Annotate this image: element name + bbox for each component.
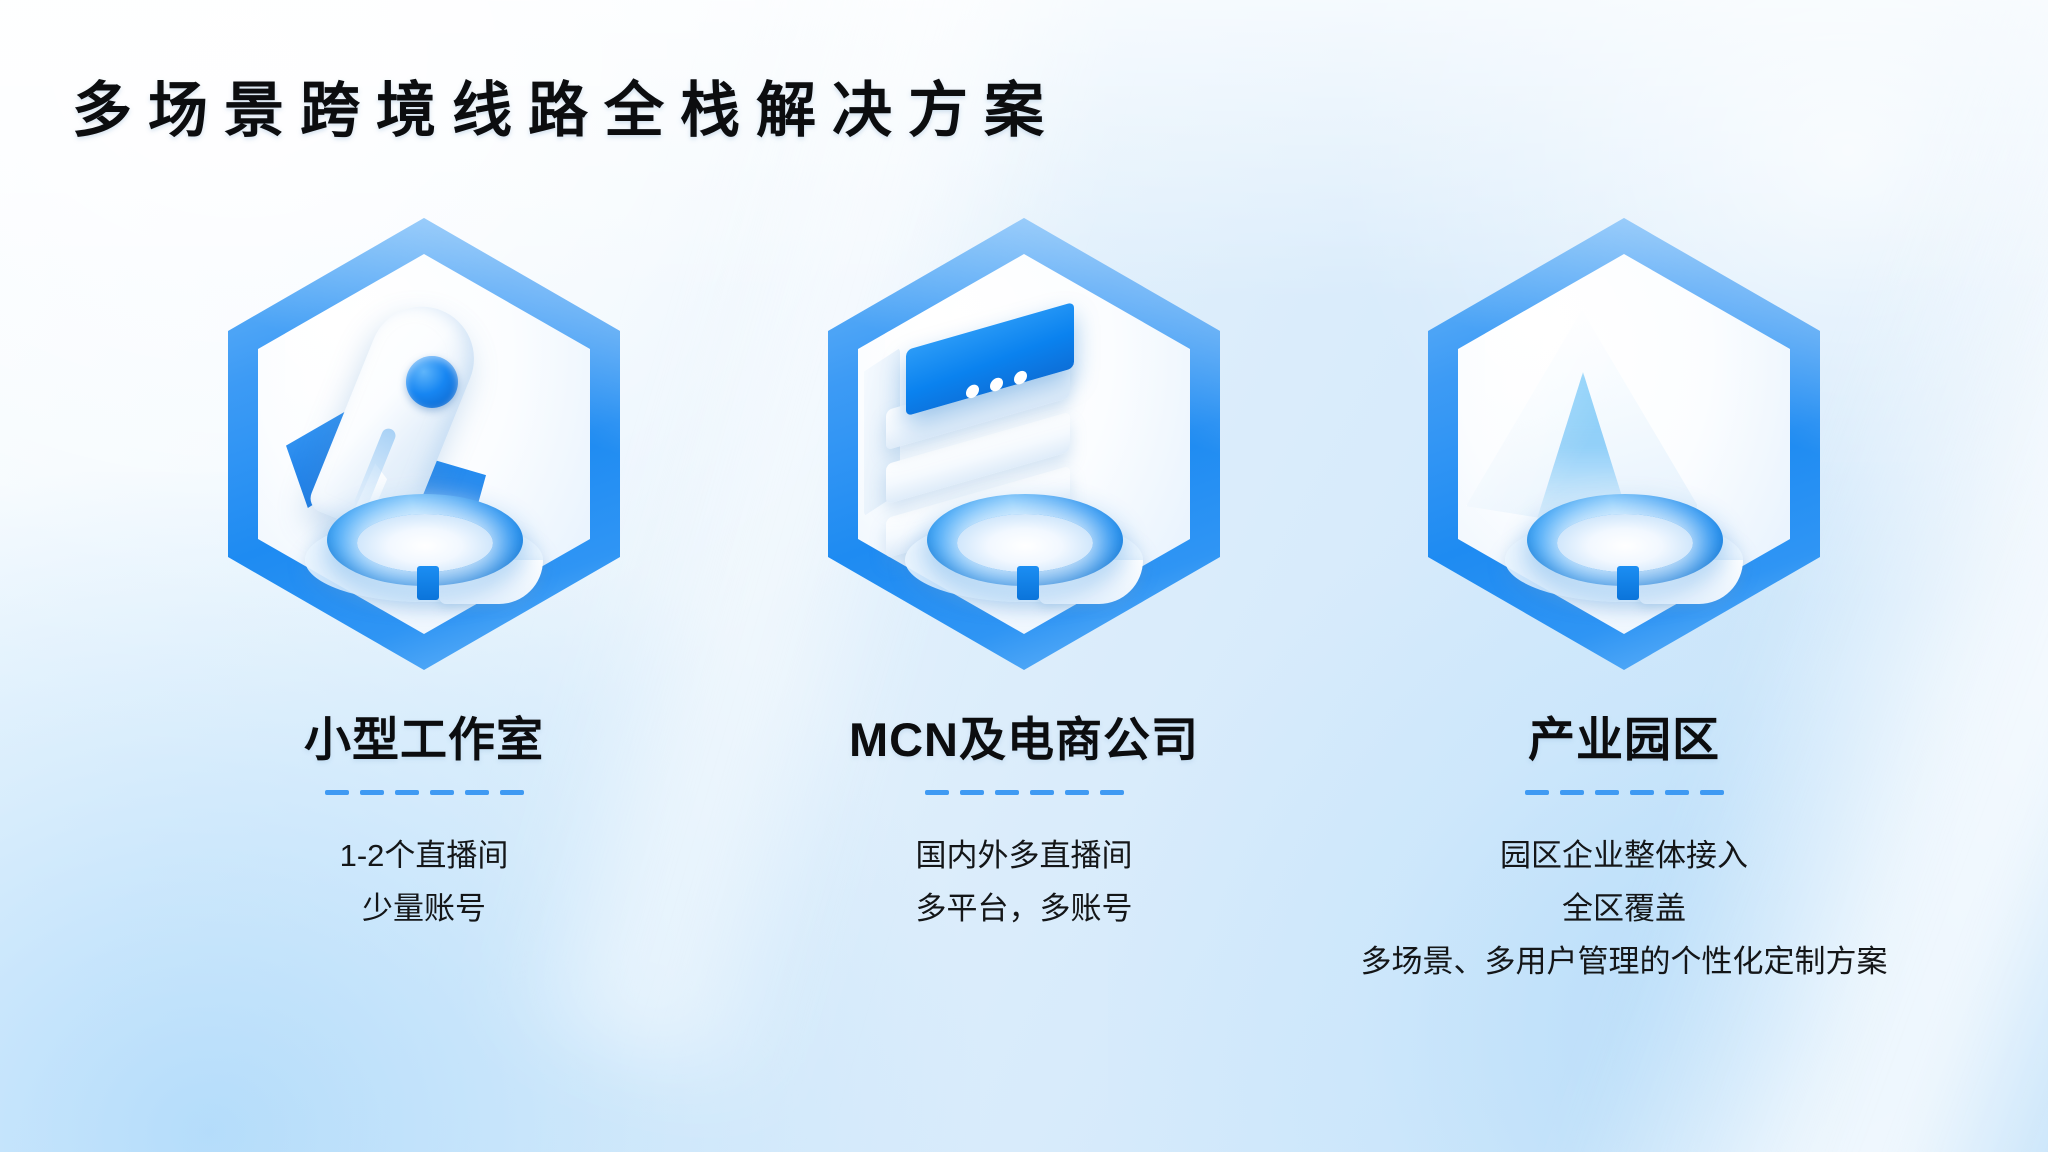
divider-dash	[465, 790, 489, 795]
card-description-line: 1-2个直播间	[340, 829, 509, 882]
card-description: 园区企业整体接入 全区覆盖 多场景、多用户管理的个性化定制方案	[1361, 829, 1888, 989]
card-description-line: 少量账号	[340, 882, 509, 935]
card-description-line: 全区覆盖	[1361, 882, 1888, 935]
divider-dash	[1525, 790, 1549, 795]
divider-dash	[395, 790, 419, 795]
divider-dash	[1630, 790, 1654, 795]
divider-dash	[1065, 790, 1089, 795]
dashed-divider	[925, 790, 1124, 795]
server-stack-icon	[828, 286, 1220, 616]
card-description-line: 多平台，多账号	[916, 882, 1133, 935]
divider-dash	[1700, 790, 1724, 795]
page-title: 多场景跨境线路全栈解决方案	[72, 62, 1060, 149]
divider-dash	[360, 790, 384, 795]
card-description: 1-2个直播间 少量账号	[340, 829, 509, 936]
hexagon-badge	[1428, 218, 1820, 670]
hexagon-badge	[828, 218, 1220, 670]
card-description-line: 园区企业整体接入	[1361, 829, 1888, 882]
divider-dash	[995, 790, 1019, 795]
card-description-line: 国内外多直播间	[916, 829, 1133, 882]
divider-dash	[325, 790, 349, 795]
solution-card-small-studio: 小型工作室 1-2个直播间 少量账号	[124, 218, 724, 935]
pedestal-notch	[1017, 566, 1039, 600]
card-description-line: 多场景、多用户管理的个性化定制方案	[1361, 935, 1888, 988]
dashed-divider	[1525, 790, 1724, 795]
card-title: 产业园区	[1528, 714, 1720, 766]
pedestal-ring-icon	[1499, 486, 1749, 606]
divider-dash	[1595, 790, 1619, 795]
divider-dash	[1560, 790, 1584, 795]
rocket-window-icon	[406, 356, 458, 408]
pedestal-notch	[1617, 566, 1639, 600]
pedestal-inner-glow	[357, 514, 493, 572]
rocket-icon	[228, 286, 620, 616]
divider-dash	[925, 790, 949, 795]
card-description: 国内外多直播间 多平台，多账号	[916, 829, 1133, 936]
solution-card-mcn-ecommerce: MCN及电商公司 国内外多直播间 多平台，多账号	[724, 218, 1324, 935]
hexagon-badge	[228, 218, 620, 670]
divider-dash	[1665, 790, 1689, 795]
divider-dash	[500, 790, 524, 795]
divider-dash	[1030, 790, 1054, 795]
divider-dash	[430, 790, 454, 795]
glass-pyramid-icon	[1428, 286, 1820, 616]
solution-card-list: 小型工作室 1-2个直播间 少量账号	[0, 218, 2048, 989]
pedestal-inner-glow	[1557, 514, 1693, 572]
pedestal-notch	[417, 566, 439, 600]
card-title: 小型工作室	[304, 714, 544, 766]
solution-card-industrial-park: 产业园区 园区企业整体接入 全区覆盖 多场景、多用户管理的个性化定制方案	[1324, 218, 1924, 989]
pedestal-inner-glow	[957, 514, 1093, 572]
divider-dash	[1100, 790, 1124, 795]
divider-dash	[960, 790, 984, 795]
pedestal-ring-icon	[299, 486, 549, 606]
pedestal-ring-icon	[899, 486, 1149, 606]
dashed-divider	[325, 790, 524, 795]
card-title: MCN及电商公司	[849, 714, 1199, 766]
